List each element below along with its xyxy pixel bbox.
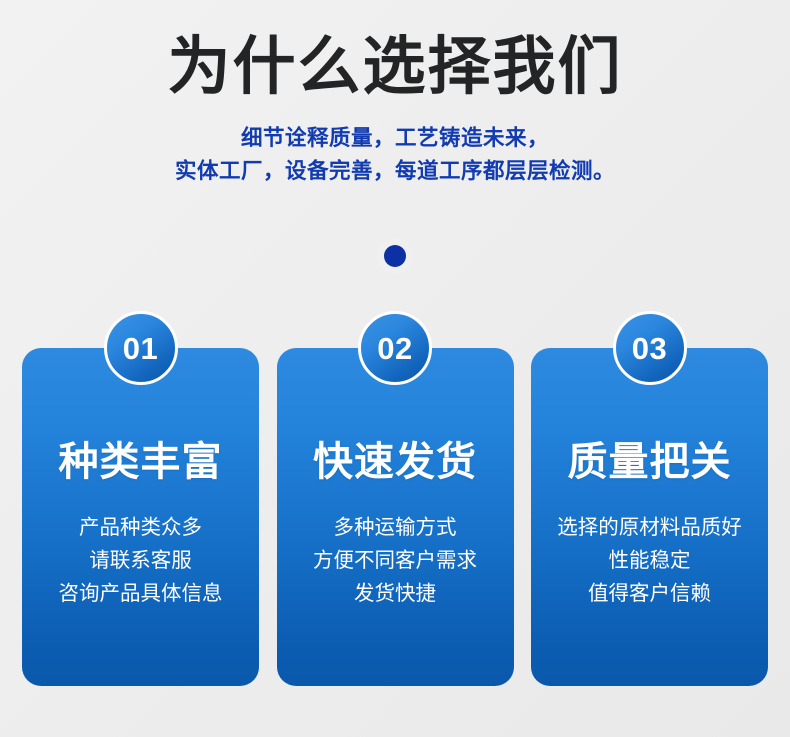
promo-banner: 为什么选择我们 细节诠释质量，工艺铸造未来， 实体工厂，设备完善，每道工序都层层… [0, 0, 790, 737]
card-number-badge-1: 01 [104, 311, 178, 385]
card-body-2-line-3: 发货快捷 [277, 577, 514, 610]
feature-card-3[interactable]: 03 质量把关 选择的原材料品质好 性能稳定 值得客户信赖 [531, 348, 768, 686]
card-title-1: 种类丰富 [22, 440, 259, 485]
subtitle-block: 细节诠释质量，工艺铸造未来， 实体工厂，设备完善，每道工序都层层检测。 [0, 100, 790, 189]
header-block: 为什么选择我们 细节诠释质量，工艺铸造未来， 实体工厂，设备完善，每道工序都层层… [0, 0, 790, 189]
card-number-label-1: 01 [123, 333, 158, 364]
card-body-1-line-1: 产品种类众多 [22, 511, 259, 544]
card-body-3-line-2: 性能稳定 [531, 544, 768, 577]
page-title: 为什么选择我们 [0, 0, 790, 100]
card-number-badge-2: 02 [358, 311, 432, 385]
subtitle-line-2: 实体工厂，设备完善，每道工序都层层检测。 [0, 155, 790, 188]
divider [0, 245, 790, 267]
card-number-label-2: 02 [377, 333, 412, 364]
divider-dot-icon [384, 245, 406, 267]
card-body-2-line-2: 方便不同客户需求 [277, 544, 514, 577]
card-number-badge-3: 03 [613, 311, 687, 385]
card-number-label-3: 03 [632, 333, 667, 364]
card-body-1-line-3: 咨询产品具体信息 [22, 577, 259, 610]
card-body-3-line-1: 选择的原材料品质好 [531, 511, 768, 544]
subtitle-line-1: 细节诠释质量，工艺铸造未来， [0, 122, 790, 155]
card-title-2: 快速发货 [277, 440, 514, 485]
card-body-1: 产品种类众多 请联系客服 咨询产品具体信息 [22, 485, 259, 611]
card-body-3-line-3: 值得客户信赖 [531, 577, 768, 610]
feature-card-2[interactable]: 02 快速发货 多种运输方式 方便不同客户需求 发货快捷 [277, 348, 514, 686]
feature-card-1[interactable]: 01 种类丰富 产品种类众多 请联系客服 咨询产品具体信息 [22, 348, 259, 686]
card-body-2: 多种运输方式 方便不同客户需求 发货快捷 [277, 485, 514, 611]
card-body-3: 选择的原材料品质好 性能稳定 值得客户信赖 [531, 485, 768, 611]
card-body-2-line-1: 多种运输方式 [277, 511, 514, 544]
card-body-1-line-2: 请联系客服 [22, 544, 259, 577]
card-title-3: 质量把关 [531, 440, 768, 485]
feature-card-list: 01 种类丰富 产品种类众多 请联系客服 咨询产品具体信息 02 快速发货 多种… [22, 348, 768, 686]
